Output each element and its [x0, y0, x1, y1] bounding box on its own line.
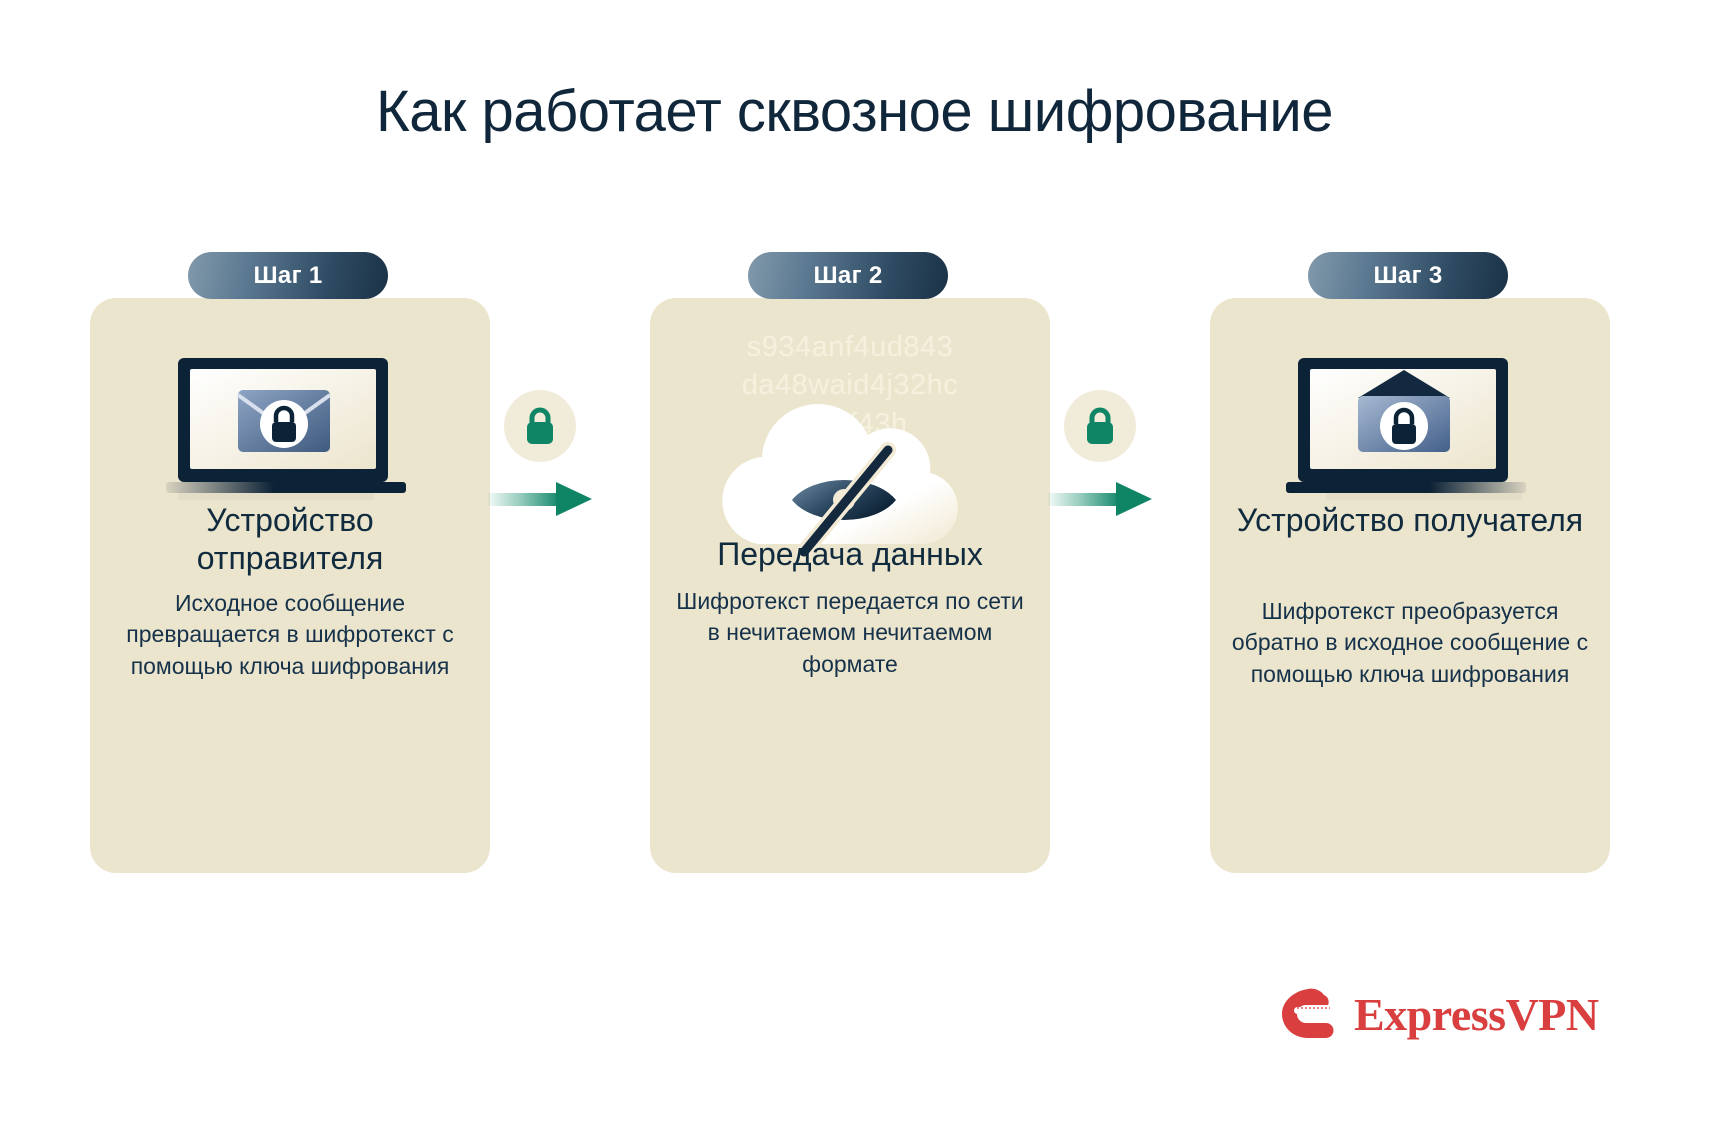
expressvpn-logo: ExpressVPN: [1278, 985, 1599, 1043]
arrow-head-icon: [1116, 482, 1152, 516]
step-1-body: Исходное сообщение превращается в шифрот…: [110, 588, 470, 682]
step-2-badge: Шаг 2: [748, 252, 948, 299]
step-2-body: Шифротекст передается по сети в нечитаем…: [670, 586, 1030, 680]
arrow-tail: [488, 493, 560, 506]
expressvpn-e-mark-icon: [1278, 985, 1340, 1043]
arrow-step2-to-step3: [1048, 482, 1158, 516]
infographic-canvas: Как работает сквозное шифрование: [0, 0, 1709, 1121]
padlock-chip-1: [504, 390, 576, 462]
logo-text: ExpressVPN: [1354, 988, 1599, 1041]
arrow-head-icon: [556, 482, 592, 516]
page-title: Как работает сквозное шифрование: [0, 78, 1709, 145]
laptop-with-locked-envelope-icon: [160, 352, 420, 522]
step-1-heading: Устройство отправителя: [112, 502, 468, 578]
step-1-badge: Шаг 1: [188, 252, 388, 299]
laptop-with-open-locked-envelope-icon: [1280, 352, 1540, 522]
padlock-chip-2: [1064, 390, 1136, 462]
padlock-icon: [1083, 406, 1117, 446]
arrow-tail: [1048, 493, 1120, 506]
step-3-badge: Шаг 3: [1308, 252, 1508, 299]
step-3-body: Шифротекст преобразуется обратно в исход…: [1230, 596, 1590, 690]
step-card-2: s934anf4ud843 da48waid4j32hc dj02f43h: [650, 298, 1050, 873]
step-card-1: Устройство отправителя Исходное сообщени…: [90, 298, 490, 873]
step-2-heading: Передача данных: [672, 536, 1028, 574]
step-card-3: Устройство получателя Шифротекст преобра…: [1210, 298, 1610, 873]
step-3-heading: Устройство получателя: [1232, 502, 1588, 540]
arrow-step1-to-step2: [488, 482, 598, 516]
step-2-illustration: [650, 336, 1050, 536]
padlock-icon: [523, 406, 557, 446]
